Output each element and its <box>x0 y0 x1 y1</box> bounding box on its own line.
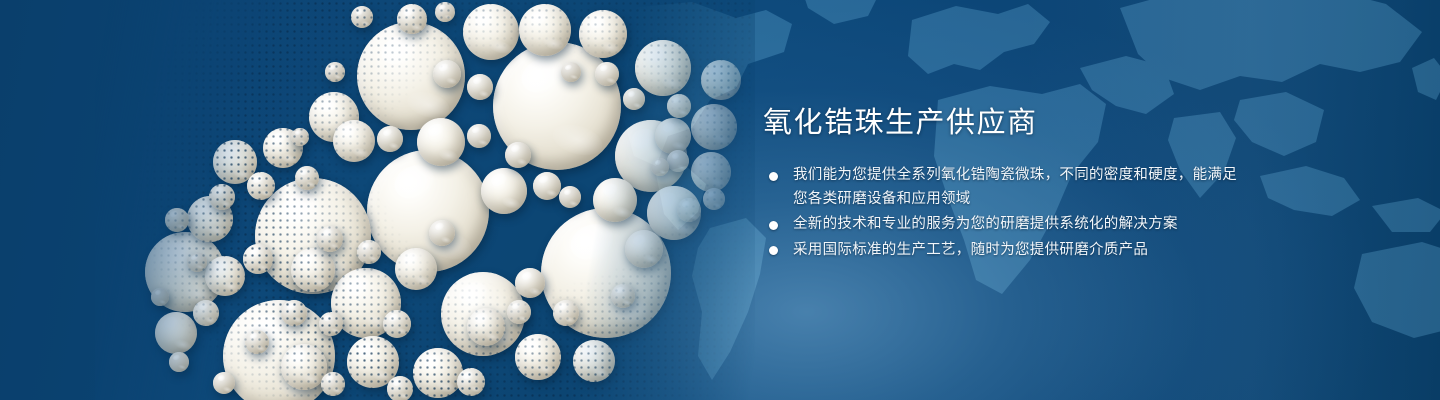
hero-banner: 氧化锆珠生产供应商 我们能为您提供全系列氧化锆陶瓷微珠，不同的密度和硬度，能满足… <box>0 0 1440 400</box>
bullet-dot-icon <box>769 172 778 181</box>
bullet-dot-icon <box>769 221 778 230</box>
bullet-text: 我们能为您提供全系列氧化锆陶瓷微珠，不同的密度和硬度，能满足您各类研磨设备和应用… <box>793 167 1237 207</box>
list-item: 全新的技术和专业的服务为您的研磨提供系统化的解决方案 <box>763 213 1243 237</box>
banner-bullet-list: 我们能为您提供全系列氧化锆陶瓷微珠，不同的密度和硬度，能满足您各类研磨设备和应用… <box>763 164 1243 262</box>
zirconia-ceramic-beads-photo <box>95 0 755 400</box>
banner-headline: 氧化锆珠生产供应商 <box>763 104 1243 142</box>
bead-cluster <box>95 0 755 400</box>
list-item: 我们能为您提供全系列氧化锆陶瓷微珠，不同的密度和硬度，能满足您各类研磨设备和应用… <box>763 164 1243 211</box>
banner-copy: 氧化锆珠生产供应商 我们能为您提供全系列氧化锆陶瓷微珠，不同的密度和硬度，能满足… <box>763 104 1243 264</box>
bullet-text: 全新的技术和专业的服务为您的研磨提供系统化的解决方案 <box>793 216 1178 232</box>
bullet-text: 采用国际标准的生产工艺，随时为您提供研磨介质产品 <box>793 242 1148 258</box>
bullet-dot-icon <box>769 246 778 255</box>
list-item: 采用国际标准的生产工艺，随时为您提供研磨介质产品 <box>763 239 1243 263</box>
